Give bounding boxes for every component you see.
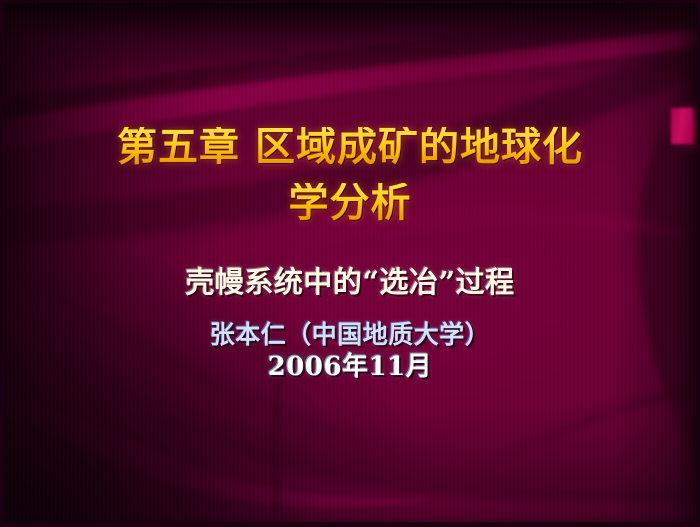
slide-author: 张本仁（中国地质大学） (3, 322, 697, 347)
slide-subtitle: 壳幔系统中的“选冶”过程 (3, 268, 697, 297)
slide-title-line-1: 第五章 区域成矿的地球化 (3, 127, 697, 167)
slide-frame: 第五章 区域成矿的地球化 学分析 壳幔系统中的“选冶”过程 张本仁（中国地质大学… (3, 3, 697, 522)
slide-date: 2006年11月 (3, 354, 697, 380)
slide-title-line-2: 学分析 (3, 183, 697, 223)
slide-content: 第五章 区域成矿的地球化 学分析 壳幔系统中的“选冶”过程 张本仁（中国地质大学… (3, 3, 697, 522)
slide-root: 第五章 区域成矿的地球化 学分析 壳幔系统中的“选冶”过程 张本仁（中国地质大学… (0, 0, 700, 527)
